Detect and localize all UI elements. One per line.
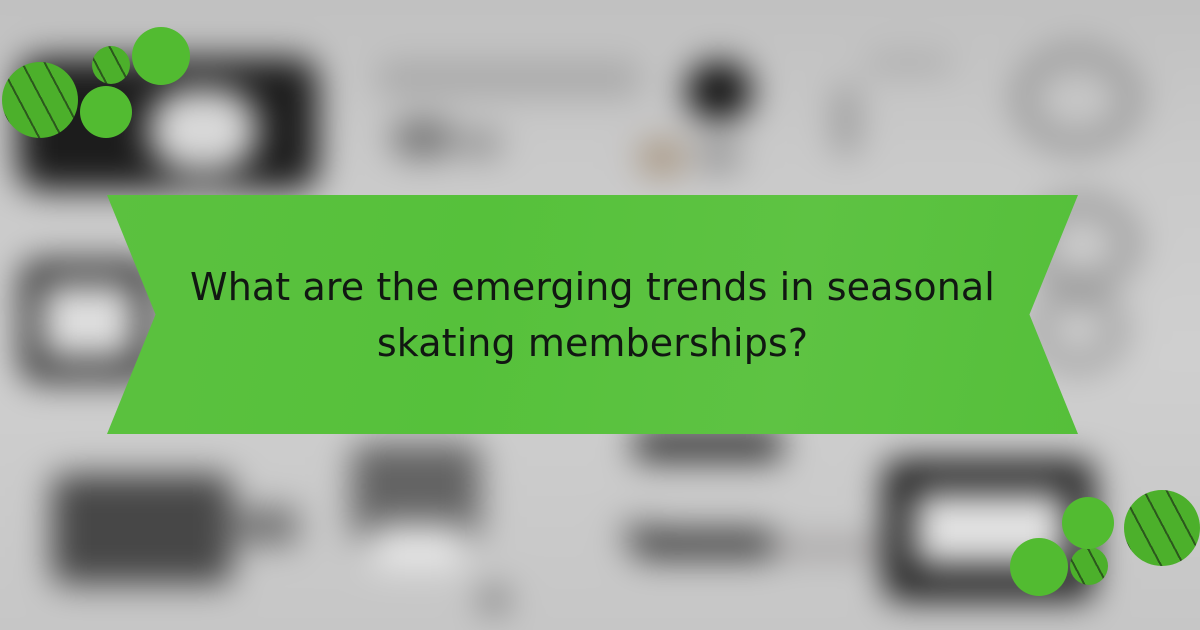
bottom-right-cluster-circle-plain-medium xyxy=(1062,497,1114,549)
bottom-right-cluster-circle-striped-small xyxy=(1070,547,1108,585)
bottom-right-cluster-circle-striped-large xyxy=(1124,490,1200,566)
social-card: What are the emerging trends in seasonal… xyxy=(0,0,1200,630)
bottom-right-cluster xyxy=(0,0,1200,630)
bottom-right-cluster-circle-plain-large xyxy=(1010,538,1068,596)
